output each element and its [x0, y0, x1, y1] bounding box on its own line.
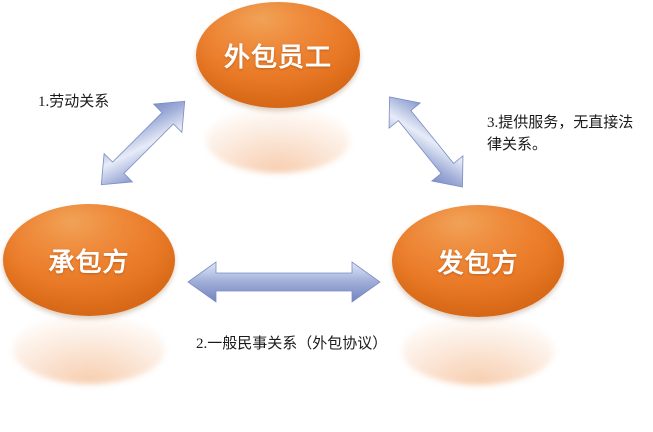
- node-label: 发包方: [437, 243, 518, 280]
- connector-label-service-relation: 3.提供服务，无直接法 律关系。: [487, 113, 637, 157]
- node-bubble: 承包方: [3, 204, 175, 316]
- node-reflection: [206, 107, 350, 173]
- node-client[interactable]: 发包方: [392, 205, 564, 317]
- node-label: 承包方: [48, 242, 129, 279]
- connector-label-labor-relation: 1.劳动关系: [38, 92, 109, 114]
- node-outsourced-employee[interactable]: 外包员工: [196, 2, 360, 108]
- node-reflection: [402, 316, 553, 385]
- node-contractor[interactable]: 承包方: [3, 204, 175, 316]
- diagram-canvas: 外包员工 承包方 发包方 1.劳动关系 3.提供服务，无直接法 律关系。 2.一…: [0, 0, 653, 432]
- node-label: 外包员工: [224, 37, 332, 74]
- arrow-civil-relation: [186, 258, 382, 306]
- connector-label-civil-relation: 2.一般民事关系（外包协议）: [196, 334, 387, 356]
- node-reflection: [13, 315, 164, 384]
- node-bubble: 发包方: [392, 205, 564, 317]
- node-bubble: 外包员工: [196, 2, 360, 108]
- arrow-service-relation: [368, 76, 484, 208]
